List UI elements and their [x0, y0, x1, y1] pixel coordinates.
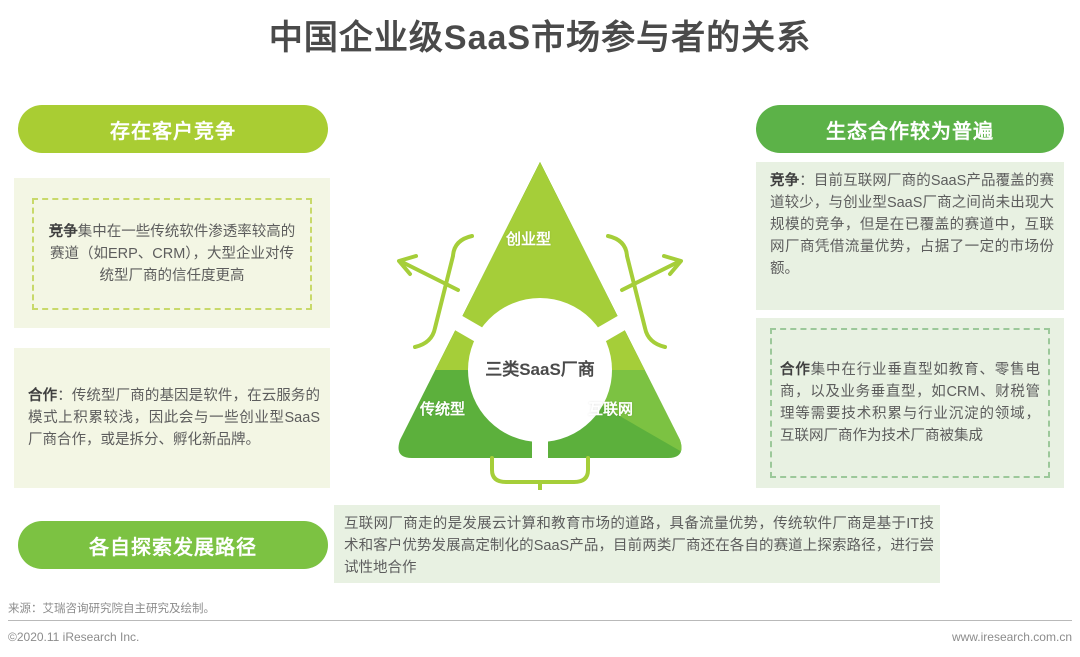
- panel-left-cooperation-lead: 合作: [28, 388, 57, 404]
- panel-left-competition-body: 集中在一些传统软件渗透率较高的赛道（如ERP、CRM），大型企业对传统型厂商的信…: [50, 224, 295, 284]
- panel-right-cooperation-inner: 合作集中在行业垂直型如教育、零售电商，以及业务垂直型，如CRM、财税管理等需要技…: [770, 328, 1050, 478]
- panel-left-competition-lead: 竞争: [49, 224, 78, 240]
- panel-right-competition-text: 竞争：目前互联网厂商的SaaS产品覆盖的赛道较少，与创业型SaaS厂商之间尚未出…: [770, 170, 1054, 280]
- pill-left-label: 存在客户竞争: [110, 115, 236, 144]
- copyright-note: ©2020.11 iResearch Inc.: [8, 630, 139, 644]
- panel-bottom-summary: 互联网厂商走的是发展云计算和教育市场的道路，具备流量优势，传统软件厂商是基于IT…: [334, 505, 940, 583]
- diagram-center-label: 三类SaaS厂商: [380, 355, 700, 380]
- page-title: 中国企业级SaaS市场参与者的关系: [0, 10, 1080, 59]
- panel-left-competition-text: 竞争集中在一些传统软件渗透率较高的赛道（如ERP、CRM），大型企业对传统型厂商…: [44, 221, 300, 287]
- panel-left-competition: 竞争集中在一些传统软件渗透率较高的赛道（如ERP、CRM），大型企业对传统型厂商…: [14, 178, 330, 328]
- panel-right-competition-inner: 竞争：目前互联网厂商的SaaS产品覆盖的赛道较少，与创业型SaaS厂商之间尚未出…: [770, 170, 1054, 302]
- panel-bottom-summary-inner: 互联网厂商走的是发展云计算和教育市场的道路，具备流量优势，传统软件厂商是基于IT…: [344, 513, 934, 577]
- panel-left-cooperation: 合作：传统型厂商的基因是软件，在云服务的模式上积累较浅，因此会与一些创业型Saa…: [14, 348, 330, 488]
- triangle-diagram-svg: [380, 140, 700, 490]
- brace-bottom: [492, 458, 588, 482]
- segment-label-startup: 创业型: [506, 228, 551, 249]
- panel-right-competition: 竞争：目前互联网厂商的SaaS产品覆盖的赛道较少，与创业型SaaS厂商之间尚未出…: [756, 162, 1064, 310]
- arrow-bottom-group: [492, 458, 588, 490]
- pill-left-competition: 存在客户竞争: [18, 105, 328, 153]
- panel-left-cooperation-text: 合作：传统型厂商的基因是软件，在云服务的模式上积累较浅，因此会与一些创业型Saa…: [28, 385, 320, 451]
- panel-left-competition-inner: 竞争集中在一些传统软件渗透率较高的赛道（如ERP、CRM），大型企业对传统型厂商…: [32, 198, 312, 310]
- panel-right-cooperation-body: 集中在行业垂直型如教育、零售电商，以及业务垂直型，如CRM、财税管理等需要技术积…: [780, 362, 1040, 444]
- panel-right-cooperation: 合作集中在行业垂直型如教育、零售电商，以及业务垂直型，如CRM、财税管理等需要技…: [756, 318, 1064, 488]
- segment-label-internet: 互联网: [588, 398, 633, 419]
- panel-left-cooperation-inner: 合作：传统型厂商的基因是软件，在云服务的模式上积累较浅，因此会与一些创业型Saa…: [28, 358, 320, 478]
- infographic-page: 中国企业级SaaS市场参与者的关系 存在客户竞争 竞争集中在一些传统软件渗透率较…: [0, 0, 1080, 657]
- source-note: 来源：艾瑞咨询研究院自主研究及绘制。: [8, 600, 215, 616]
- footer-divider: [8, 620, 1072, 621]
- panel-right-cooperation-text: 合作集中在行业垂直型如教育、零售电商，以及业务垂直型，如CRM、财税管理等需要技…: [780, 359, 1040, 447]
- pill-right-label: 生态合作较为普遍: [826, 115, 994, 144]
- panel-right-cooperation-lead: 合作: [780, 362, 811, 378]
- pill-left-paths-label: 各自探索发展路径: [89, 531, 257, 560]
- pill-left-paths: 各自探索发展路径: [18, 521, 328, 569]
- pill-right-ecosystem: 生态合作较为普遍: [756, 105, 1064, 153]
- segment-label-traditional: 传统型: [420, 398, 465, 419]
- panel-right-competition-body: ：目前互联网厂商的SaaS产品覆盖的赛道较少，与创业型SaaS厂商之间尚未出现大…: [770, 173, 1054, 277]
- website-url: www.iresearch.com.cn: [952, 630, 1072, 644]
- panel-bottom-summary-text: 互联网厂商走的是发展云计算和教育市场的道路，具备流量优势，传统软件厂商是基于IT…: [344, 513, 934, 579]
- panel-right-competition-lead: 竞争: [770, 173, 799, 189]
- triangle-diagram: 创业型 传统型 互联网 三类SaaS厂商: [380, 140, 700, 490]
- panel-left-cooperation-body: ：传统型厂商的基因是软件，在云服务的模式上积累较浅，因此会与一些创业型SaaS厂…: [28, 388, 320, 448]
